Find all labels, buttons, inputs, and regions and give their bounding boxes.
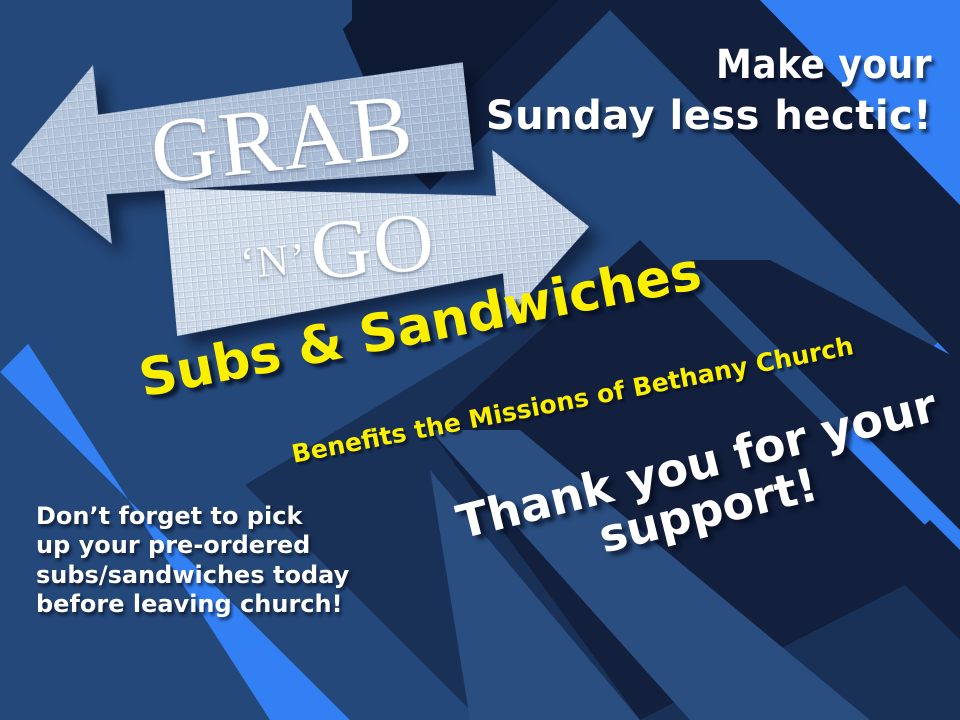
- reminder-line-4: before leaving church!: [36, 590, 349, 619]
- reminder-line-3: subs/sandwiches today: [36, 561, 349, 590]
- headline-block: Make your Sunday less hectic!: [486, 44, 932, 138]
- reminder-block: Don’t forget to pick up your pre-ordered…: [36, 502, 349, 619]
- reminder-line-1: Don’t forget to pick: [36, 502, 349, 531]
- headline-line-2: Sunday less hectic!: [486, 95, 932, 138]
- headline-line-1: Make your: [486, 44, 932, 87]
- slide-canvas: GRAB: [0, 0, 960, 720]
- reminder-line-2: up your pre-ordered: [36, 531, 349, 560]
